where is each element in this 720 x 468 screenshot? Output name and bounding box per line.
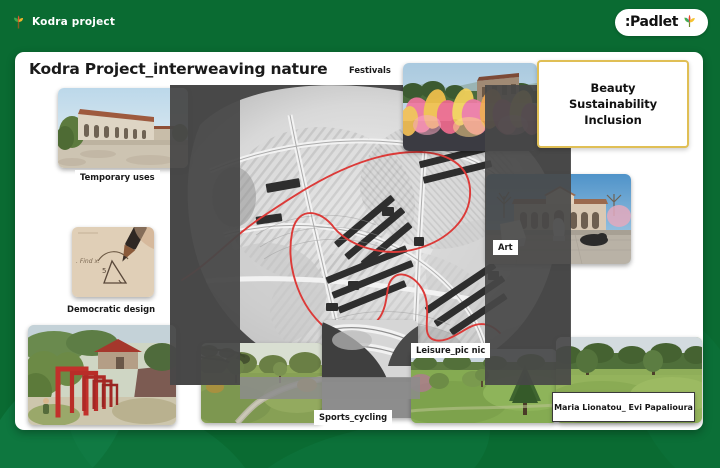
caption-festivals: Festivals [344, 63, 396, 78]
padlet-logo-badge[interactable]: :Padlet [615, 9, 708, 36]
project-title: Kodra project [32, 16, 115, 28]
map-overlay-plate [170, 85, 240, 385]
caption-art: Art [493, 240, 518, 255]
presentation-board: Kodra Project_interweaving nature [15, 52, 703, 430]
democratic-design-photo: . Find x. 5 [72, 227, 154, 297]
project-identity[interactable]: Kodra project [12, 15, 115, 29]
card-sports-cycling[interactable] [322, 320, 418, 418]
playground-photo [28, 325, 176, 425]
svg-text:5: 5 [102, 267, 106, 275]
map-overlay-plate [240, 377, 420, 399]
sprout-icon [12, 15, 25, 29]
page-title: Kodra Project_interweaving nature [29, 60, 327, 78]
keyword-beauty: Beauty [591, 81, 636, 95]
svg-text:. Find x.: . Find x. [76, 258, 100, 265]
caption-leisure-picnic: Leisure_pic nic [411, 343, 490, 358]
sports-cycling-photo [322, 320, 418, 418]
caption-temporary-uses: Temporary uses [75, 170, 160, 185]
authors-note[interactable]: Maria Lionatou_ Evi Papalioura [552, 392, 695, 422]
caption-sports-cycling: Sports_cycling [314, 410, 392, 425]
top-bar: Kodra project :Padlet [0, 0, 720, 44]
temporary-uses-photo [58, 88, 188, 168]
keywords-note[interactable]: Beauty Sustainability Inclusion [537, 60, 689, 148]
caption-democratic-design: Democratic design [62, 302, 160, 317]
authors-text: Maria Lionatou_ Evi Papalioura [554, 403, 693, 412]
keyword-inclusion: Inclusion [584, 113, 641, 127]
card-democratic-design[interactable]: . Find x. 5 [72, 227, 154, 297]
padlet-screenshot: Kodra project :Padlet [0, 0, 720, 468]
padlet-leaf-icon [682, 13, 697, 32]
card-playground[interactable] [28, 325, 176, 425]
keyword-sustainability: Sustainability [569, 97, 657, 111]
card-temporary-uses[interactable] [58, 88, 188, 168]
padlet-wordmark: :Padlet [625, 14, 678, 30]
